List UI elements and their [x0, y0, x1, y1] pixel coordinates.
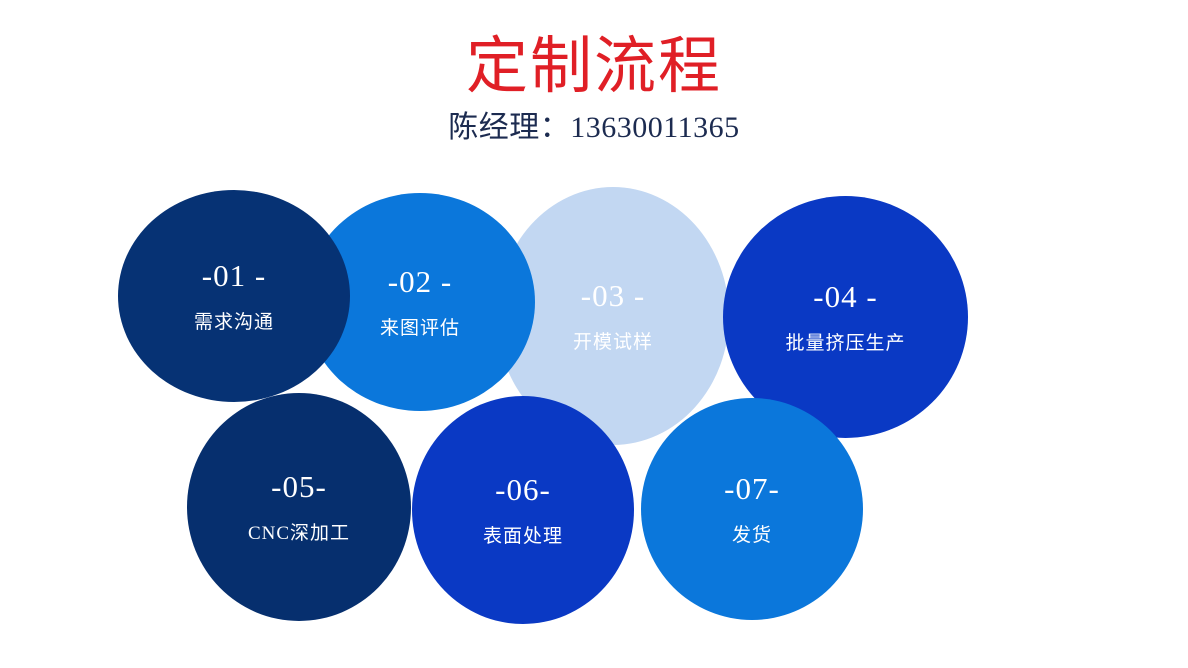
flow-step-4-number: -04 -: [813, 281, 877, 312]
flow-step-7[interactable]: -07- 发货: [641, 398, 863, 620]
flow-step-5-label: CNC深加工: [248, 524, 350, 543]
flow-step-4-label: 批量挤压生产: [785, 334, 905, 353]
flow-step-7-label: 发货: [732, 526, 772, 545]
flow-step-6-label: 表面处理: [483, 527, 563, 546]
flow-step-2-number: -02 -: [388, 266, 452, 297]
flow-step-6[interactable]: -06- 表面处理: [412, 396, 634, 624]
slide-canvas: 定制流程 陈经理：13630011365 -01 - 需求沟通 -02 - 来图…: [0, 0, 1188, 668]
flow-step-1-label: 需求沟通: [194, 313, 274, 332]
flow-step-5-number: -05-: [271, 471, 327, 502]
flow-step-3-label: 开模试样: [573, 333, 653, 352]
flow-step-3-number: -03 -: [581, 280, 645, 311]
flow-step-2-label: 来图评估: [380, 319, 460, 338]
flow-step-7-number: -07-: [724, 473, 780, 504]
flow-step-1-number: -01 -: [202, 260, 266, 291]
flow-step-6-number: -06-: [495, 474, 551, 505]
flow-step-5[interactable]: -05- CNC深加工: [187, 393, 411, 621]
flow-diagram: -01 - 需求沟通 -02 - 来图评估 -03 - 开模试样 -04 - 批…: [0, 0, 1188, 668]
flow-step-1[interactable]: -01 - 需求沟通: [118, 190, 350, 402]
